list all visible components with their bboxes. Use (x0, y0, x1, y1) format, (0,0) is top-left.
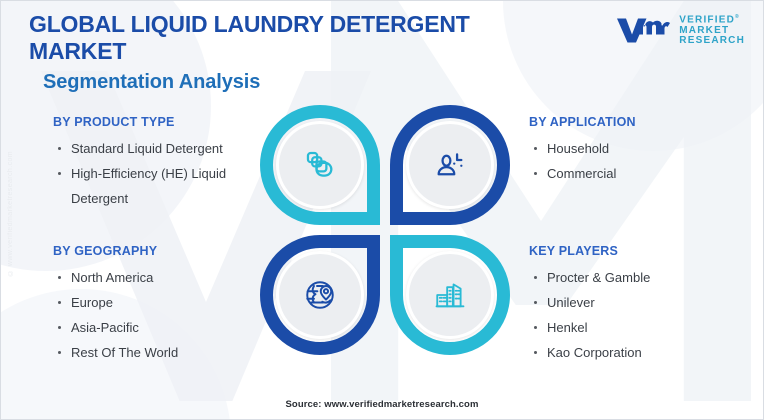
vmr-logo-mark-icon (615, 12, 671, 46)
list-item: High-Efficiency (HE) Liquid Detergent (53, 161, 268, 211)
segment-heading-product-type: BY PRODUCT TYPE (53, 115, 268, 129)
list-item: Procter & Gamble (529, 265, 744, 290)
list-item: Rest Of The World (53, 340, 268, 365)
list-item: North America (53, 265, 268, 290)
segment-heading-key-players: KEY PLAYERS (529, 244, 744, 258)
copyright-watermark: © www.verifiedmarketresearch.com (7, 151, 14, 276)
globe-pin-icon (302, 277, 338, 313)
segment-application: BY APPLICATION Household Commercial (529, 115, 744, 186)
list-item: Commercial (529, 161, 744, 186)
city-buildings-icon (433, 278, 467, 312)
brand-logo: VERIFIED® MARKET RESEARCH (615, 12, 745, 47)
quadrant-disc (406, 251, 494, 339)
quadrant-product-type (260, 105, 380, 225)
list-item: Standard Liquid Detergent (53, 136, 268, 161)
center-pinwheel-graphic (260, 105, 510, 355)
user-person-icon (433, 148, 467, 182)
infographic-frame: © www.verifiedmarketresearch.com GLOBAL … (0, 0, 764, 420)
stacked-layers-icon (303, 148, 337, 182)
segment-key-players: KEY PLAYERS Procter & Gamble Unilever He… (529, 244, 744, 365)
segment-heading-application: BY APPLICATION (529, 115, 744, 129)
list-item: Asia-Pacific (53, 315, 268, 340)
quadrant-disc (276, 251, 364, 339)
list-item: Unilever (529, 290, 744, 315)
page-title: GLOBAL LIQUID LAUNDRY DETERGENT MARKET (29, 11, 549, 65)
registered-mark: ® (735, 14, 740, 20)
segment-geography: BY GEOGRAPHY North America Europe Asia-P… (53, 244, 268, 365)
list-item: Henkel (529, 315, 744, 340)
source-caption: Source: www.verifiedmarketresearch.com (1, 399, 763, 410)
segment-list-product-type: Standard Liquid Detergent High-Efficienc… (53, 136, 268, 211)
list-item: Europe (53, 290, 268, 315)
quadrant-key-players (390, 235, 510, 355)
logo-wordmark: VERIFIED® MARKET RESEARCH (679, 12, 745, 47)
quadrant-disc (406, 121, 494, 209)
logo-line-verified: VERIFIED (679, 14, 735, 25)
list-item: Kao Corporation (529, 340, 744, 365)
quadrant-geography (260, 235, 380, 355)
logo-line-research: RESEARCH (679, 36, 745, 47)
page-subtitle: Segmentation Analysis (43, 71, 549, 94)
header: GLOBAL LIQUID LAUNDRY DETERGENT MARKET S… (29, 11, 549, 94)
segment-heading-geography: BY GEOGRAPHY (53, 244, 268, 258)
segment-product-type: BY PRODUCT TYPE Standard Liquid Detergen… (53, 115, 268, 211)
segment-list-key-players: Procter & Gamble Unilever Henkel Kao Cor… (529, 265, 744, 365)
quadrant-application (390, 105, 510, 225)
segment-list-application: Household Commercial (529, 136, 744, 186)
list-item: Household (529, 136, 744, 161)
quadrant-disc (276, 121, 364, 209)
segment-list-geography: North America Europe Asia-Pacific Rest O… (53, 265, 268, 365)
